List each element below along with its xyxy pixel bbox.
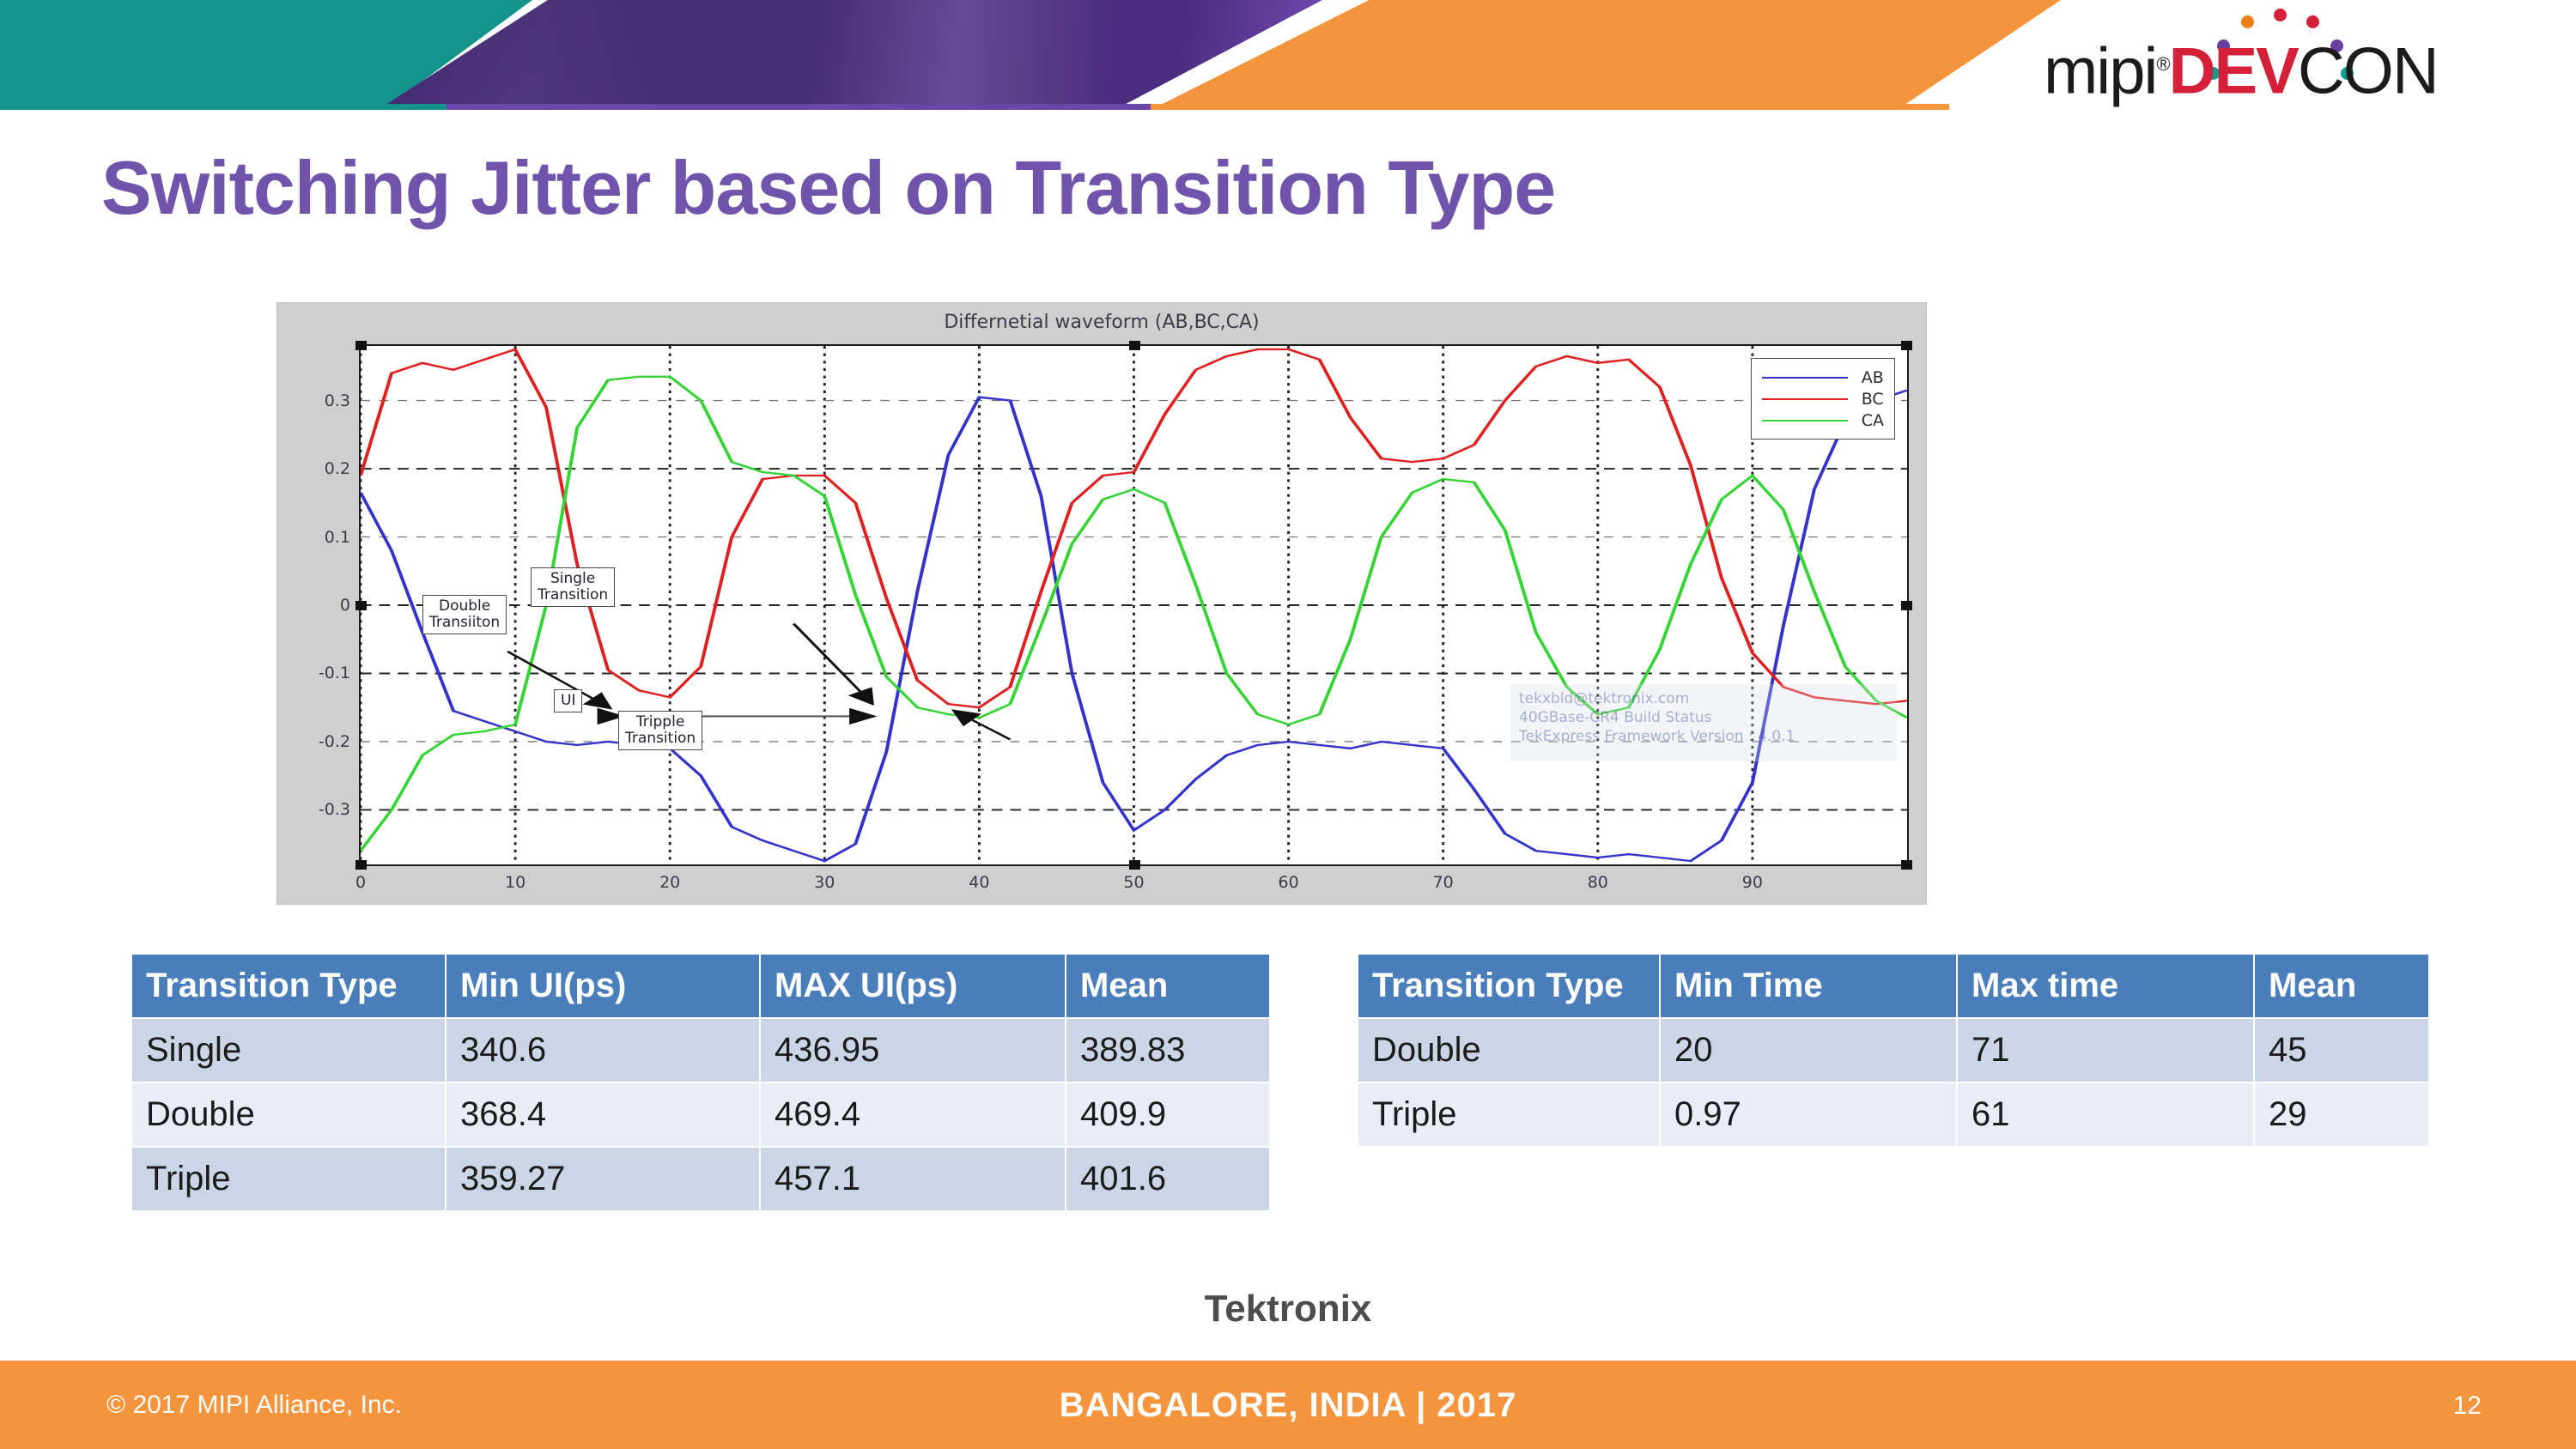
selection-handle-ml[interactable]: [355, 601, 367, 610]
legend-label: CA: [1862, 411, 1884, 430]
waveform-chart-figure: Differnetial waveform (AB,BC,CA) ABBCCA …: [276, 302, 1927, 905]
annotation-ui-span: UI: [554, 689, 582, 712]
column-header: MAX UI(ps): [760, 954, 1066, 1018]
chart-plot-area: ABBCCA tekxbld@tektronix.com 40GBase-CR4…: [359, 344, 1909, 866]
table-cell: Triple: [131, 1147, 446, 1211]
legend-item-AB: AB: [1762, 367, 1884, 388]
x-axis-tick: 10: [505, 873, 526, 892]
x-axis-tick: 20: [659, 873, 680, 892]
chart-watermark: tekxbld@tektronix.com 40GBase-CR4 Build …: [1510, 684, 1897, 761]
table-row: Triple359.27457.1401.6: [131, 1147, 1270, 1211]
mipi-devcon-logo: mipi®DEVCON: [2044, 7, 2542, 101]
selection-handle-bc[interactable]: [1129, 860, 1140, 870]
logo-dot-2: [2306, 15, 2319, 28]
column-header: Min UI(ps): [446, 954, 760, 1018]
x-axis-tick: 60: [1279, 873, 1299, 892]
annotation-double-line1: Double: [429, 598, 500, 615]
selection-handle-tl[interactable]: [355, 341, 367, 350]
annotation-arrow-1: [793, 624, 871, 703]
y-axis-tick: 0.2: [325, 459, 350, 478]
x-axis-tick: 40: [969, 873, 989, 892]
table-cell: Double: [131, 1082, 446, 1147]
selection-handle-mr[interactable]: [1901, 601, 1912, 610]
table-cell: 61: [1957, 1082, 2254, 1147]
y-axis-tick: 0.3: [325, 391, 350, 410]
header-baseline-purple: [447, 104, 1151, 110]
watermark-line-1: tekxbld@tektronix.com: [1519, 689, 1888, 708]
chart-title: Differnetial waveform (AB,BC,CA): [277, 312, 1926, 333]
logo-dot-1: [2274, 9, 2287, 21]
table-cell: 20: [1660, 1018, 1957, 1082]
table-body: Single340.6436.95389.83Double368.4469.44…: [131, 1018, 1270, 1211]
annotation-tripple-line2: Transition: [625, 731, 696, 747]
annotation-single-line1: Single: [538, 571, 608, 587]
logo-text-mipi: mipi: [2044, 34, 2156, 107]
watermark-line-2: 40GBase-CR4 Build Status: [1519, 708, 1888, 727]
table-row: Single340.6436.95389.83: [131, 1018, 1270, 1082]
table-cell: 469.4: [760, 1082, 1066, 1147]
footer-bar: © 2017 MIPI Alliance, Inc. BANGALORE, IN…: [0, 1361, 2576, 1449]
table-cell: 436.95: [760, 1018, 1066, 1082]
watermark-line-3: TekExpress Framework Version : 4.0.1: [1519, 727, 1888, 746]
legend-item-BC: BC: [1762, 388, 1884, 409]
x-axis-tick: 90: [1742, 873, 1763, 892]
table-body: Double207145Triple0.976129: [1358, 1018, 2429, 1147]
column-header: Min Time: [1660, 954, 1957, 1018]
table-cell: 340.6: [446, 1018, 760, 1082]
table-cell: Triple: [1358, 1082, 1660, 1147]
page-title: Switching Jitter based on Transition Typ…: [101, 144, 2334, 232]
legend-item-CA: CA: [1762, 409, 1884, 431]
selection-handle-bl[interactable]: [355, 860, 367, 870]
y-axis-tick: -0.3: [319, 800, 350, 819]
source-caption: Tektronix: [0, 1288, 2576, 1331]
table-cell: 29: [2254, 1082, 2429, 1147]
annotation-single-transition: Single Transition: [531, 567, 615, 607]
table-cell: 45: [2254, 1018, 2429, 1082]
legend-swatch: [1762, 377, 1848, 379]
table-cell: Single: [131, 1018, 446, 1082]
annotation-tripple-line1: Tripple: [625, 714, 696, 731]
table-row: Triple0.976129: [1358, 1082, 2429, 1147]
table-cell: 409.9: [1066, 1082, 1270, 1147]
table-cell: 71: [1957, 1018, 2254, 1082]
table-cell: 359.27: [446, 1147, 760, 1211]
table-header-row: Transition TypeMin TimeMax timeMean: [1358, 954, 2429, 1018]
table-cell: 457.1: [760, 1147, 1066, 1211]
legend-swatch: [1762, 398, 1848, 400]
column-header: Transition Type: [1358, 954, 1660, 1018]
column-header: Transition Type: [131, 954, 446, 1018]
selection-handle-tc[interactable]: [1129, 341, 1140, 350]
x-axis-tick: 70: [1433, 873, 1454, 892]
table-row: Double207145: [1358, 1018, 2429, 1082]
selection-handle-tr[interactable]: [1901, 341, 1912, 350]
x-axis-tick: 0: [355, 873, 366, 892]
logo-text-con: CON: [2298, 34, 2438, 107]
table-cell: 401.6: [1066, 1147, 1270, 1211]
logo-registered-icon: ®: [2156, 53, 2168, 75]
header-baseline-teal: [0, 104, 447, 110]
legend-label: AB: [1862, 368, 1884, 387]
column-header: Mean: [2254, 954, 2429, 1018]
logo-dot-0: [2241, 15, 2254, 28]
logo-text-dev: DEV: [2169, 34, 2298, 107]
transition-time-table: Transition TypeMin TimeMax timeMean Doub…: [1357, 953, 2430, 1148]
table-cell: 389.83: [1066, 1018, 1270, 1082]
y-axis-tick: 0.1: [325, 528, 350, 547]
annotation-double-line2: Transiiton: [429, 615, 500, 631]
footer-event-label: BANGALORE, INDIA | 2017: [0, 1386, 2576, 1425]
table-row: Double368.4469.4409.9: [131, 1082, 1270, 1147]
table-cell: 368.4: [446, 1082, 760, 1147]
column-header: Max time: [1957, 954, 2254, 1018]
table-header-row: Transition TypeMin UI(ps)MAX UI(ps)Mean: [131, 954, 1270, 1018]
header-band-purple: [378, 0, 1322, 110]
y-axis-tick: 0: [340, 596, 350, 615]
selection-handle-br[interactable]: [1901, 860, 1912, 870]
column-header: Mean: [1066, 954, 1270, 1018]
legend-swatch: [1762, 420, 1848, 421]
footer-page-number: 12: [2453, 1391, 2482, 1421]
annotation-tripple-transition: Tripple Transition: [618, 711, 702, 750]
x-axis-tick: 50: [1123, 873, 1144, 892]
chart-legend: ABBCCA: [1751, 358, 1895, 440]
y-axis-tick: -0.2: [319, 732, 350, 751]
table-cell: Double: [1358, 1018, 1660, 1082]
y-axis-tick: -0.1: [319, 664, 350, 682]
legend-label: BC: [1862, 390, 1884, 409]
logo-wordmark: mipi®DEVCON: [2044, 31, 2542, 105]
table-cell: 0.97: [1660, 1082, 1957, 1147]
annotation-double-transition: Double Transiiton: [422, 595, 507, 634]
x-axis-tick: 30: [814, 873, 835, 892]
x-axis-tick: 80: [1588, 873, 1608, 892]
transition-ui-table: Transition TypeMin UI(ps)MAX UI(ps)Mean …: [131, 953, 1271, 1212]
annotation-single-line2: Transition: [538, 587, 608, 603]
